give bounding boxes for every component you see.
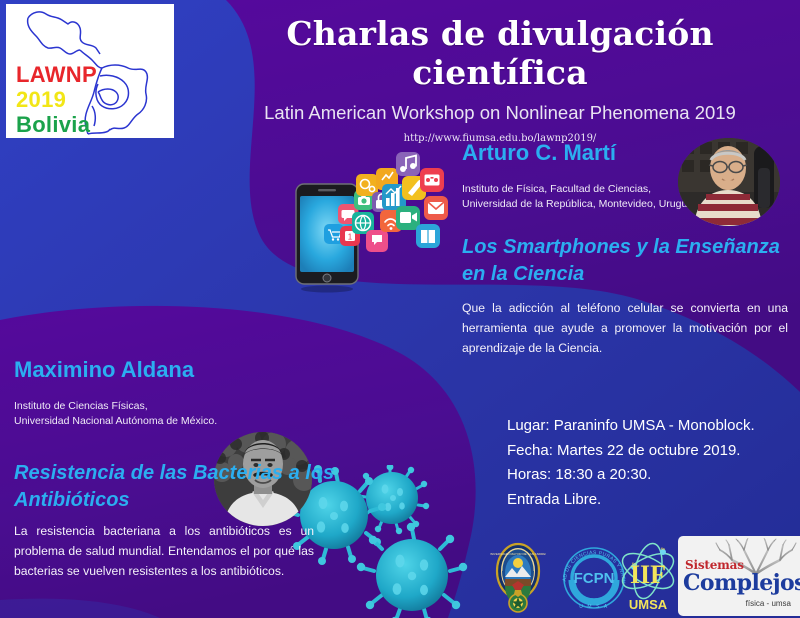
svg-text:fis: fis (661, 546, 665, 551)
speaker-2-talk-title: Resistencia de las Bacterias a los Antib… (14, 460, 354, 514)
event-admission: Entrada Libre. (507, 488, 755, 513)
speaker-2-name: Maximino Aldana (14, 357, 194, 383)
event-place: Lugar: Paraninfo UMSA - Monoblock. (507, 414, 755, 439)
fcpn-acronym: FCPN (574, 570, 615, 587)
portrait-arturo-marti-avatar (678, 138, 780, 226)
virus-large (357, 523, 467, 618)
page-subtitle: Latin American Workshop on Nonlinear Phe… (200, 102, 800, 124)
event-time: Horas: 18:30 a 20:30. (507, 463, 755, 488)
speaker-1-talk-title: Los Smartphones y la Enseñanza en la Cie… (462, 234, 792, 288)
lawnp-line-2: 2019 (16, 87, 97, 112)
speaker-1-photo (678, 138, 780, 226)
speaker-2-affiliation: Instituto de Ciencias Físicas, Universid… (14, 399, 254, 429)
iif-umsa-logo: fis fis IIF UMSA (610, 539, 686, 617)
sponsor-logos: UNIVERSIDAD MAYOR DE SAN ANDRES FACULTAD… (484, 538, 800, 618)
svg-text:1: 1 (348, 233, 353, 242)
umsa-shield-logo: UNIVERSIDAD MAYOR DE SAN ANDRES (490, 541, 546, 615)
lawnp-line-3: Bolivia (16, 112, 97, 137)
event-date: Fecha: Martes 22 de octubre 2019. (507, 439, 755, 464)
sistemas-complejos-logo: Sistemas Complejos física - umsa (678, 536, 800, 616)
iif-sub: UMSA (629, 597, 668, 612)
event-details: Lugar: Paraninfo UMSA - Monoblock. Fecha… (507, 414, 755, 512)
page-title: Charlas de divulgación científica (200, 14, 800, 92)
sistemas-complejos-sub: física - umsa (746, 599, 791, 608)
lawnp-wordmark: LAWNP 2019 Bolivia (16, 62, 97, 137)
sistemas-complejos-word-2: Complejos (683, 570, 800, 596)
smartphone-apps-illustration: 1 (276, 140, 466, 310)
poster-canvas: LAWNP 2019 Bolivia Charlas de divulgació… (0, 0, 800, 618)
speaker-2-abstract: La resistencia bacteriana a los antibiót… (14, 521, 314, 581)
poster-header: Charlas de divulgación científica Latin … (200, 0, 800, 144)
speaker-2-affiliation-line-2: Universidad Nacional Autónoma de México. (14, 414, 254, 429)
speaker-1-name: Arturo C. Martí (462, 140, 616, 166)
fcpn-sub: U M S A (579, 604, 609, 610)
lawnp-line-1: LAWNP (16, 62, 97, 87)
speaker-1-abstract: Que la adicción al teléfono celular se c… (462, 298, 788, 358)
lawnp-logo-card: LAWNP 2019 Bolivia (6, 4, 174, 138)
iif-acronym: IIF (630, 560, 666, 589)
speaker-2-affiliation-line-1: Instituto de Ciencias Físicas, (14, 399, 254, 414)
